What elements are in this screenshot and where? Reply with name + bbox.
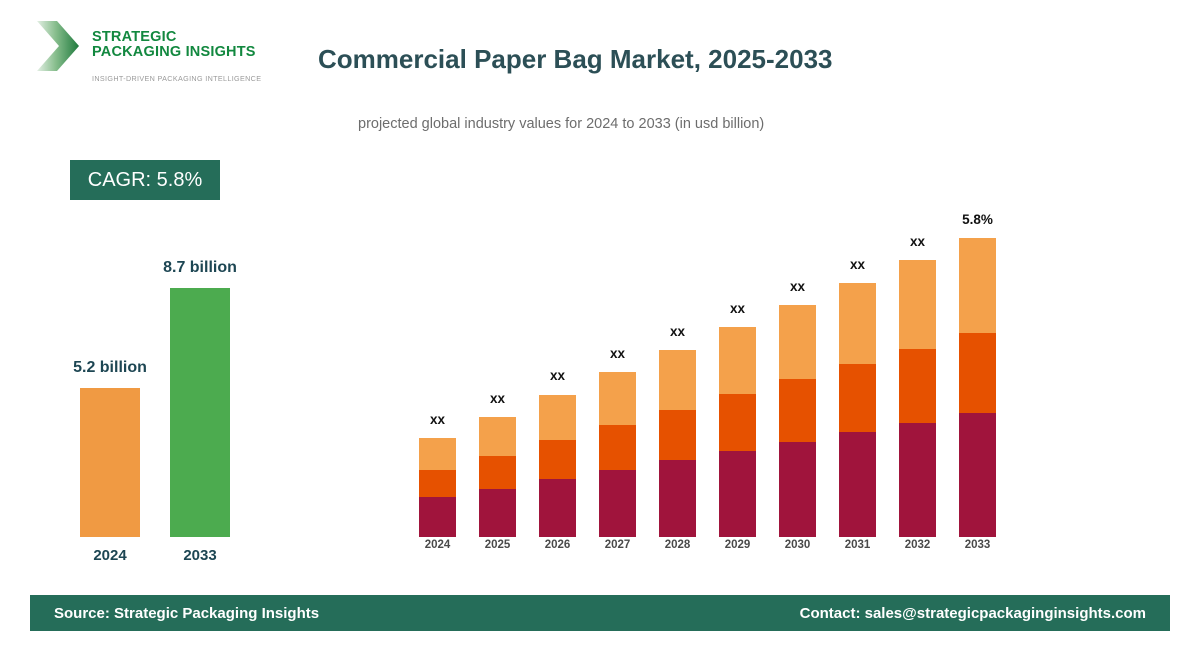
stacked-bar-segment-segment-bottom [659,460,696,537]
footer-contact-label: Contact: sales@strategicpackaginginsight… [800,605,1146,622]
footer-bar: Source: Strategic Packaging Insights Con… [30,595,1170,631]
stacked-bar-segment-segment-bottom [959,413,996,537]
stacked-bar-segment-segment-top [839,283,876,364]
stacked-bar-segment-segment-middle [479,456,516,489]
stacked-bar-segment-segment-middle [779,379,816,441]
stacked-bar-column [599,372,636,537]
stacked-bar-segment-segment-top [779,305,816,379]
stacked-bar-segment-segment-middle [599,425,636,470]
stacked-bar-column [959,238,996,537]
forecast-stacked-bar-chart: xx2024xx2025xx2026xx2027xx2028xx2029xx20… [0,0,1200,580]
stacked-bar-segment-segment-bottom [779,442,816,537]
stacked-bar-segment-segment-top [419,438,456,470]
stacked-bar-column [779,305,816,537]
stacked-bar-column [419,438,456,537]
stacked-bar-value-label: xx [453,391,543,406]
stacked-bar-column [479,417,516,537]
stacked-bar-value-label: xx [573,346,663,361]
stacked-bar-segment-segment-bottom [719,451,756,537]
stacked-bar-value-label: 5.8% [933,212,1023,227]
stacked-bar-value-label: xx [753,279,843,294]
stacked-bar-segment-segment-top [539,395,576,441]
stacked-bar-column [719,327,756,537]
stacked-bar-value-label: xx [813,257,903,272]
stacked-bar-column [899,260,936,537]
stacked-bar-segment-segment-middle [899,349,936,423]
stacked-bar-segment-segment-bottom [839,432,876,537]
stacked-bar-segment-segment-middle [839,364,876,432]
stacked-bar-segment-segment-middle [719,394,756,451]
stacked-bar-segment-segment-top [599,372,636,425]
stacked-bar-segment-segment-top [959,238,996,333]
stacked-bar-segment-segment-bottom [539,479,576,537]
stacked-bar-column [539,394,576,537]
stacked-bar-value-label: xx [633,324,723,339]
stacked-bar-value-label: xx [393,412,483,427]
stacked-bar-segment-segment-top [659,350,696,410]
stacked-bar-segment-segment-middle [419,470,456,497]
stacked-bar-column [659,350,696,537]
stacked-bar-segment-segment-top [479,417,516,456]
stacked-bar-year-label: 2033 [933,539,1023,551]
stacked-bar-segment-segment-bottom [599,470,636,537]
stacked-bar-segment-segment-bottom [899,423,936,537]
stacked-bar-segment-segment-middle [959,333,996,413]
stacked-bar-segment-segment-middle [539,440,576,479]
stacked-bar-value-label: xx [873,234,963,249]
stacked-bar-segment-segment-bottom [479,489,516,537]
stacked-bar-segment-segment-top [719,327,756,394]
stacked-bar-value-label: xx [513,368,603,383]
stacked-bar-segment-segment-middle [659,410,696,461]
stacked-bar-segment-segment-bottom [419,497,456,537]
stacked-bar-column [839,283,876,537]
stacked-bar-segment-segment-top [899,260,936,348]
stacked-bar-value-label: xx [693,301,783,316]
footer-source-label: Source: Strategic Packaging Insights [54,605,319,622]
